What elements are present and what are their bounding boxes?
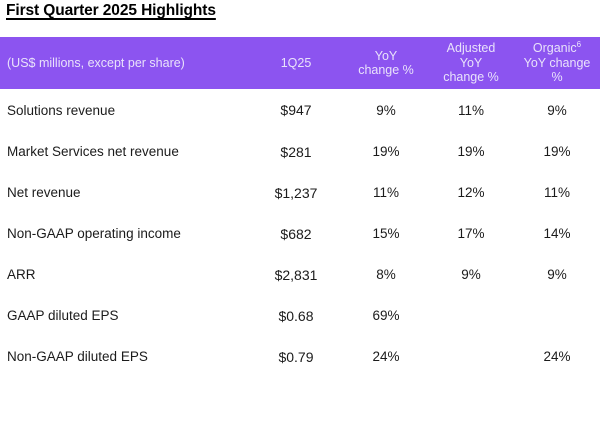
row-label: Non-GAAP diluted EPS <box>0 336 248 377</box>
page-title: First Quarter 2025 Highlights <box>6 2 216 20</box>
row-value-1q25: $0.79 <box>248 336 344 377</box>
table-row: ARR$2,8318%9%9% <box>0 254 600 295</box>
row-yoy-change: 8% <box>344 254 428 295</box>
row-yoy-change: 9% <box>344 89 428 131</box>
table-header-row: (US$ millions, except per share) 1Q25 Yo… <box>0 37 600 89</box>
column-header-yoy-change-line1: YoY <box>375 49 397 63</box>
column-header-adjusted-line2: YoY <box>460 56 482 70</box>
row-label: Solutions revenue <box>0 89 248 131</box>
column-header-yoy-change: YoY change % <box>344 37 428 89</box>
row-adjusted-change <box>428 295 514 336</box>
row-yoy-change: 19% <box>344 131 428 172</box>
row-label: Net revenue <box>0 172 248 213</box>
row-yoy-change: 11% <box>344 172 428 213</box>
table-body: Solutions revenue$9479%11%9%Market Servi… <box>0 89 600 377</box>
row-yoy-change: 15% <box>344 213 428 254</box>
column-header-organic-yoy-change: Organic6 YoY change % <box>514 37 600 89</box>
row-label: ARR <box>0 254 248 295</box>
row-organic-change: 24% <box>514 336 600 377</box>
table-row: Non-GAAP diluted EPS$0.7924%24% <box>0 336 600 377</box>
column-header-yoy-change-line2: change % <box>358 63 414 77</box>
column-header-adjusted-line1: Adjusted <box>447 41 496 55</box>
table-row: Net revenue$1,23711%12%11% <box>0 172 600 213</box>
row-yoy-change: 24% <box>344 336 428 377</box>
column-header-adjusted-yoy-change: Adjusted YoY change % <box>428 37 514 89</box>
highlights-table: (US$ millions, except per share) 1Q25 Yo… <box>0 37 600 377</box>
column-header-adjusted-line3: change % <box>443 70 499 84</box>
row-label: Market Services net revenue <box>0 131 248 172</box>
row-organic-change <box>514 295 600 336</box>
column-header-organic-line3: % <box>551 70 562 84</box>
row-organic-change: 19% <box>514 131 600 172</box>
row-yoy-change: 69% <box>344 295 428 336</box>
row-adjusted-change: 11% <box>428 89 514 131</box>
row-adjusted-change: 17% <box>428 213 514 254</box>
column-header-metric: (US$ millions, except per share) <box>0 37 248 89</box>
column-header-1q25: 1Q25 <box>248 37 344 89</box>
table-row: Solutions revenue$9479%11%9% <box>0 89 600 131</box>
row-value-1q25: $947 <box>248 89 344 131</box>
row-value-1q25: $281 <box>248 131 344 172</box>
row-organic-change: 14% <box>514 213 600 254</box>
row-value-1q25: $682 <box>248 213 344 254</box>
row-value-1q25: $2,831 <box>248 254 344 295</box>
row-adjusted-change: 9% <box>428 254 514 295</box>
row-organic-change: 9% <box>514 254 600 295</box>
row-label: Non-GAAP operating income <box>0 213 248 254</box>
row-adjusted-change <box>428 336 514 377</box>
table-row: Market Services net revenue$28119%19%19% <box>0 131 600 172</box>
table-row: GAAP diluted EPS$0.6869% <box>0 295 600 336</box>
row-value-1q25: $1,237 <box>248 172 344 213</box>
row-adjusted-change: 19% <box>428 131 514 172</box>
table-row: Non-GAAP operating income$68215%17%14% <box>0 213 600 254</box>
row-organic-change: 11% <box>514 172 600 213</box>
organic-footnote-marker: 6 <box>577 40 581 49</box>
row-label: GAAP diluted EPS <box>0 295 248 336</box>
column-header-organic-line1: Organic <box>533 41 577 55</box>
table-header: (US$ millions, except per share) 1Q25 Yo… <box>0 37 600 89</box>
column-header-organic-line2: YoY change <box>524 56 591 70</box>
row-organic-change: 9% <box>514 89 600 131</box>
row-value-1q25: $0.68 <box>248 295 344 336</box>
row-adjusted-change: 12% <box>428 172 514 213</box>
